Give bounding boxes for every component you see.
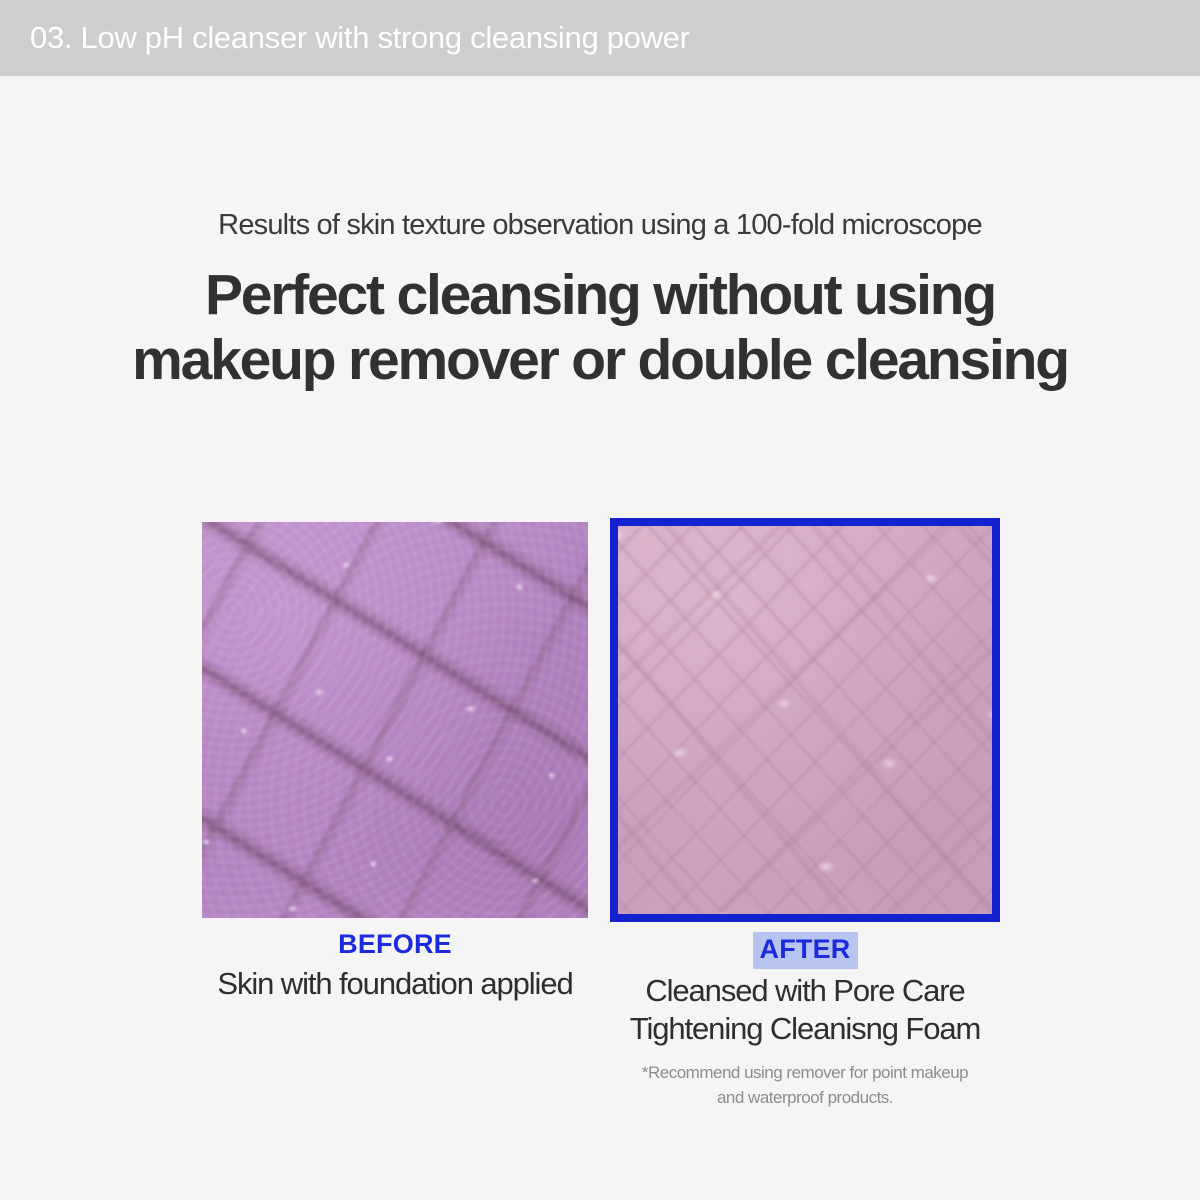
before-badge: BEFORE: [338, 928, 452, 962]
section-header-bar: 03. Low pH cleanser with strong cleansin…: [0, 0, 1200, 76]
headline-line-1: Perfect cleansing without using: [0, 263, 1200, 329]
skin-texture-after: [618, 526, 992, 914]
page-title: Perfect cleansing without using makeup r…: [0, 263, 1200, 394]
before-panel: BEFORE Skin with foundation applied: [202, 518, 588, 1003]
after-caption-block: AFTER Cleansed with Pore Care Tightening…: [610, 932, 1000, 1111]
subtitle: Results of skin texture observation usin…: [0, 208, 1200, 243]
headline-line-2: makeup remover or double cleansing: [0, 328, 1200, 394]
before-after-comparison: BEFORE Skin with foundation applied AFTE…: [0, 518, 1200, 1138]
footnote: *Recommend using remover for point makeu…: [610, 1061, 1000, 1110]
section-header-title: 03. Low pH cleanser with strong cleansin…: [30, 20, 690, 56]
footnote-line-2: and waterproof products.: [610, 1086, 1000, 1111]
footnote-line-1: *Recommend using remover for point makeu…: [610, 1061, 1000, 1086]
after-panel: AFTER Cleansed with Pore Care Tightening…: [610, 518, 1000, 1111]
after-badge: AFTER: [753, 932, 858, 969]
after-microscope-image: [618, 526, 992, 914]
intro-text-block: Results of skin texture observation usin…: [0, 208, 1200, 394]
skin-texture-before: [202, 522, 588, 918]
after-caption-line-2: Tightening Cleanisng Foam: [610, 1010, 1000, 1048]
before-caption: Skin with foundation applied: [202, 965, 588, 1003]
before-microscope-image: [202, 522, 588, 918]
before-caption-block: BEFORE Skin with foundation applied: [202, 928, 588, 1003]
after-image-frame: [610, 518, 1000, 922]
after-caption: Cleansed with Pore Care Tightening Clean…: [610, 972, 1000, 1048]
after-caption-line-1: Cleansed with Pore Care: [610, 972, 1000, 1010]
before-caption-line-1: Skin with foundation applied: [202, 965, 588, 1003]
